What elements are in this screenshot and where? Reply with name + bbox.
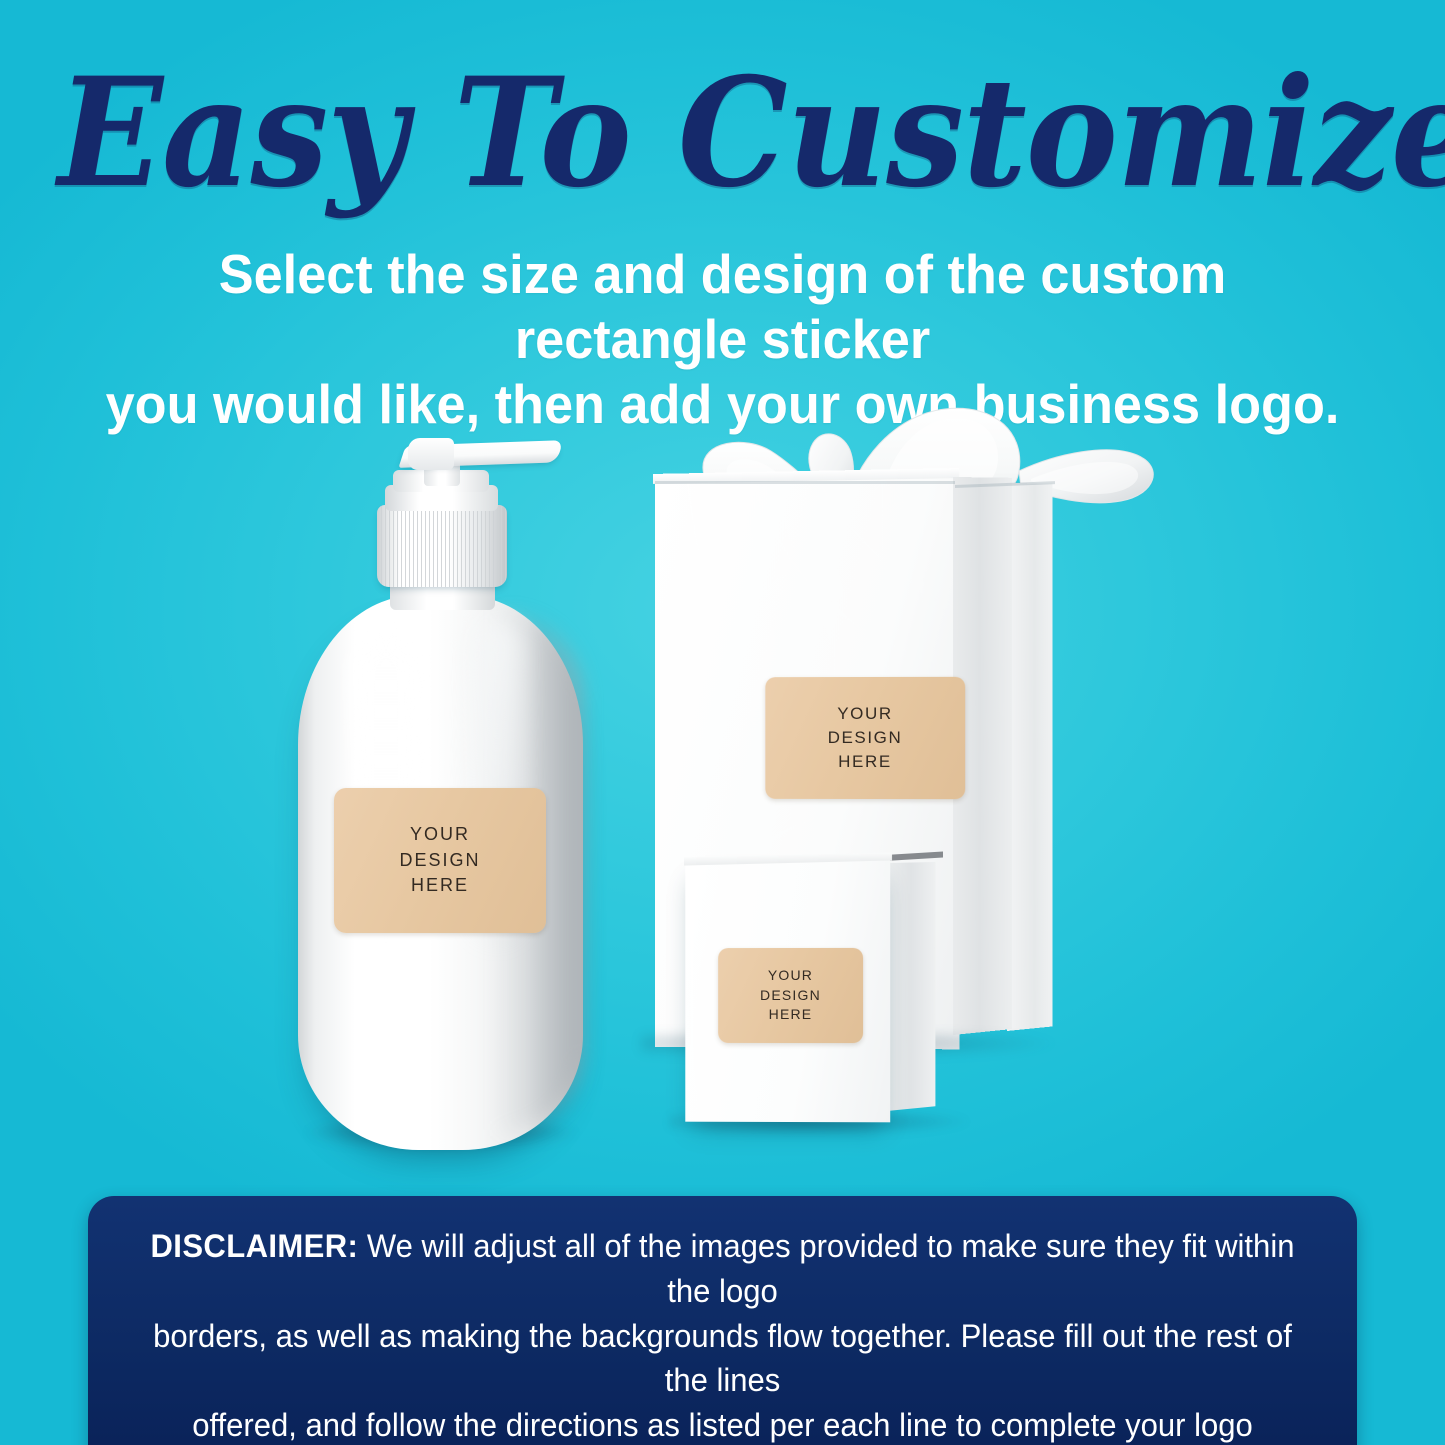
sticker-line-2: DESIGN <box>828 726 903 750</box>
sticker-line-1: YOUR <box>828 702 903 726</box>
sticker-line-3: HERE <box>828 750 903 774</box>
sticker-on-bottle[interactable]: YOUR DESIGN HERE <box>334 788 546 933</box>
disclaimer-line-2: borders, as well as making the backgroun… <box>146 1314 1299 1404</box>
sticker-text: YOUR DESIGN HERE <box>760 966 821 1026</box>
sticker-on-gift-box[interactable]: YOUR DESIGN HERE <box>765 677 965 799</box>
sticker-line-1: YOUR <box>399 822 480 848</box>
sticker-line-2: DESIGN <box>399 848 480 874</box>
disclaimer-line-3: offered, and follow the directions as li… <box>146 1403 1299 1445</box>
disclaimer-line-1: DISCLAIMER: We will adjust all of the im… <box>146 1224 1299 1314</box>
gift-box-lid-seam <box>655 481 955 484</box>
disclaimer-label: DISCLAIMER: <box>151 1228 359 1264</box>
sticker-on-small-box[interactable]: YOUR DESIGN HERE <box>718 948 863 1043</box>
sticker-text: YOUR DESIGN HERE <box>399 822 480 899</box>
sticker-line-2: DESIGN <box>760 986 821 1006</box>
small-box-right-panel <box>887 862 935 1111</box>
small-product-box: YOUR DESIGN HERE <box>685 860 950 1145</box>
gift-box-right-panel-back <box>1007 483 1053 1031</box>
sticker-line-3: HERE <box>399 873 480 899</box>
disclaimer-text: DISCLAIMER: We will adjust all of the im… <box>146 1224 1299 1445</box>
disclaimer-panel: DISCLAIMER: We will adjust all of the im… <box>88 1196 1357 1445</box>
disclaimer-line-1-rest: We will adjust all of the images provide… <box>358 1228 1294 1309</box>
sticker-line-3: HERE <box>760 1005 821 1025</box>
sticker-line-1: YOUR <box>760 966 821 986</box>
bottle-ribbed-collar <box>377 505 507 587</box>
pump-bottle: YOUR DESIGN HERE <box>290 430 600 1170</box>
sticker-text: YOUR DESIGN HERE <box>828 702 903 774</box>
pump-press-head[interactable] <box>408 438 454 470</box>
promo-graphic-canvas: Easy To Customize Select the size and de… <box>0 0 1445 1445</box>
